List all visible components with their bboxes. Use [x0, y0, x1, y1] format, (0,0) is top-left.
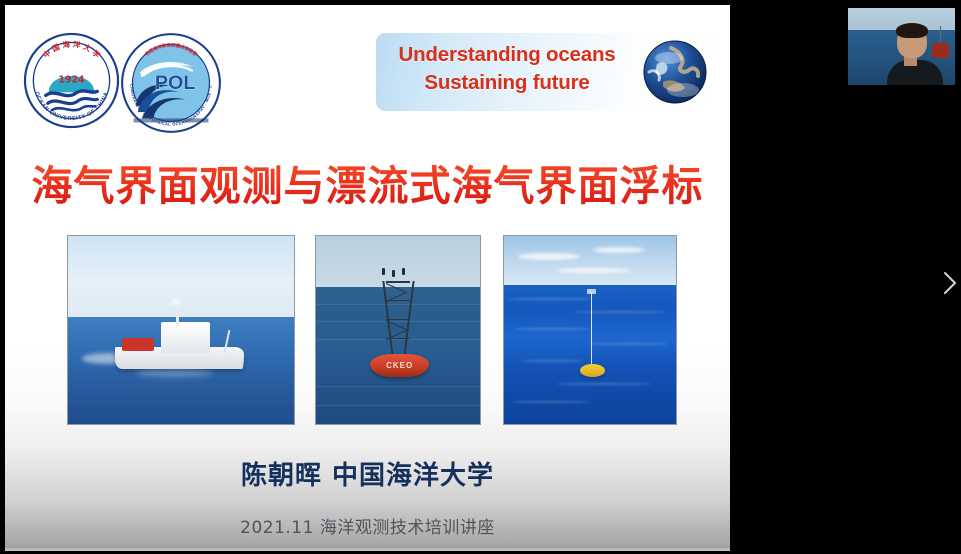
research-vessel-photo: 白色海洋科考船在蓝色海面航行 — [67, 235, 295, 425]
slogan-line-2: Sustaining future — [386, 69, 628, 97]
ckeo-mooring-buoy-photo: CKEO 红色CKEO锚系浮标，顶部塔架装有气象传感器 — [315, 235, 481, 425]
slogan-line-1: Understanding oceans — [386, 41, 628, 69]
presenter-video-thumbnail[interactable]: 演讲者视频画面，背景为海面 — [847, 7, 956, 86]
screen-share-viewport: 1924 中 国 海 洋 大 学 OCEAN UNIVERSITY OF CHI… — [0, 0, 961, 554]
presenter-affiliation: 陈朝晖 中国海洋大学 — [5, 455, 730, 492]
drifting-buoy-photo: 黄色漂流式海气界面浮标在深蓝色海面 — [503, 235, 677, 425]
slide-title: 海气界面观测与漂流式海气界面浮标 — [5, 152, 730, 212]
svg-text:POL: POL — [155, 72, 196, 94]
earth-globe-icon — [641, 38, 709, 106]
slide-bottom-edge — [5, 546, 730, 551]
event-subtitle: 2021.11 海洋观测技术培训讲座 — [5, 513, 730, 538]
next-slide-arrow-icon[interactable] — [940, 268, 960, 298]
slogan-text: Understanding oceans Sustaining future — [386, 41, 628, 97]
ocean-university-of-china-logo: 1924 中 国 海 洋 大 学 OCEAN UNIVERSITY OF CHI… — [22, 31, 121, 130]
slogan-banner: Understanding oceans Sustaining future — [376, 33, 718, 111]
presentation-slide[interactable]: 1924 中 国 海 洋 大 学 OCEAN UNIVERSITY OF CHI… — [5, 5, 730, 548]
buoy-label: CKEO — [370, 361, 429, 370]
svg-text:1924: 1924 — [58, 74, 85, 85]
physical-oceanography-laboratory-logo: POL 物理海洋教育部重点实验室 KEY LABORATORY OF PHYSI… — [119, 31, 223, 135]
